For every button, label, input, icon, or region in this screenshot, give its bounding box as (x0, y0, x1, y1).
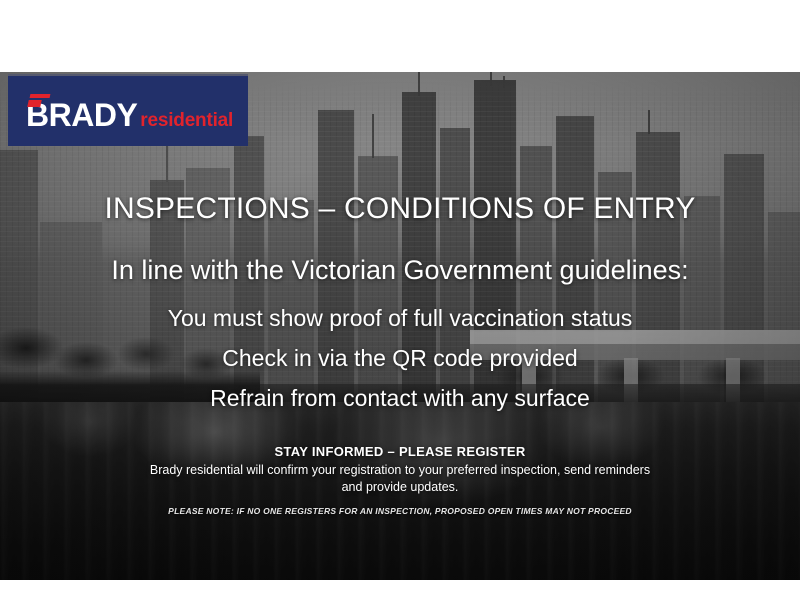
condition-item-3: Refrain from contact with any surface (0, 385, 800, 412)
condition-item-2: Check in via the QR code provided (0, 345, 800, 372)
footer-body-line-1: Brady residential will confirm your regi… (0, 462, 800, 479)
footer-title: STAY INFORMED – PLEASE REGISTER (0, 444, 800, 459)
inspection-conditions-banner: BRADYresidential INSPECTIONS – CONDITION… (0, 0, 800, 600)
footer-body-line-2: and provide updates. (0, 479, 800, 496)
footer-fine-print: PLEASE NOTE: IF NO ONE REGISTERS FOR AN … (0, 506, 800, 516)
condition-item-1: You must show proof of full vaccination … (0, 305, 800, 332)
footer-block: STAY INFORMED – PLEASE REGISTER Brady re… (0, 444, 800, 496)
banner-copy: INSPECTIONS – CONDITIONS OF ENTRY In lin… (0, 72, 800, 580)
page-subtitle: In line with the Victorian Government gu… (0, 255, 800, 286)
page-title: INSPECTIONS – CONDITIONS OF ENTRY (0, 192, 800, 226)
